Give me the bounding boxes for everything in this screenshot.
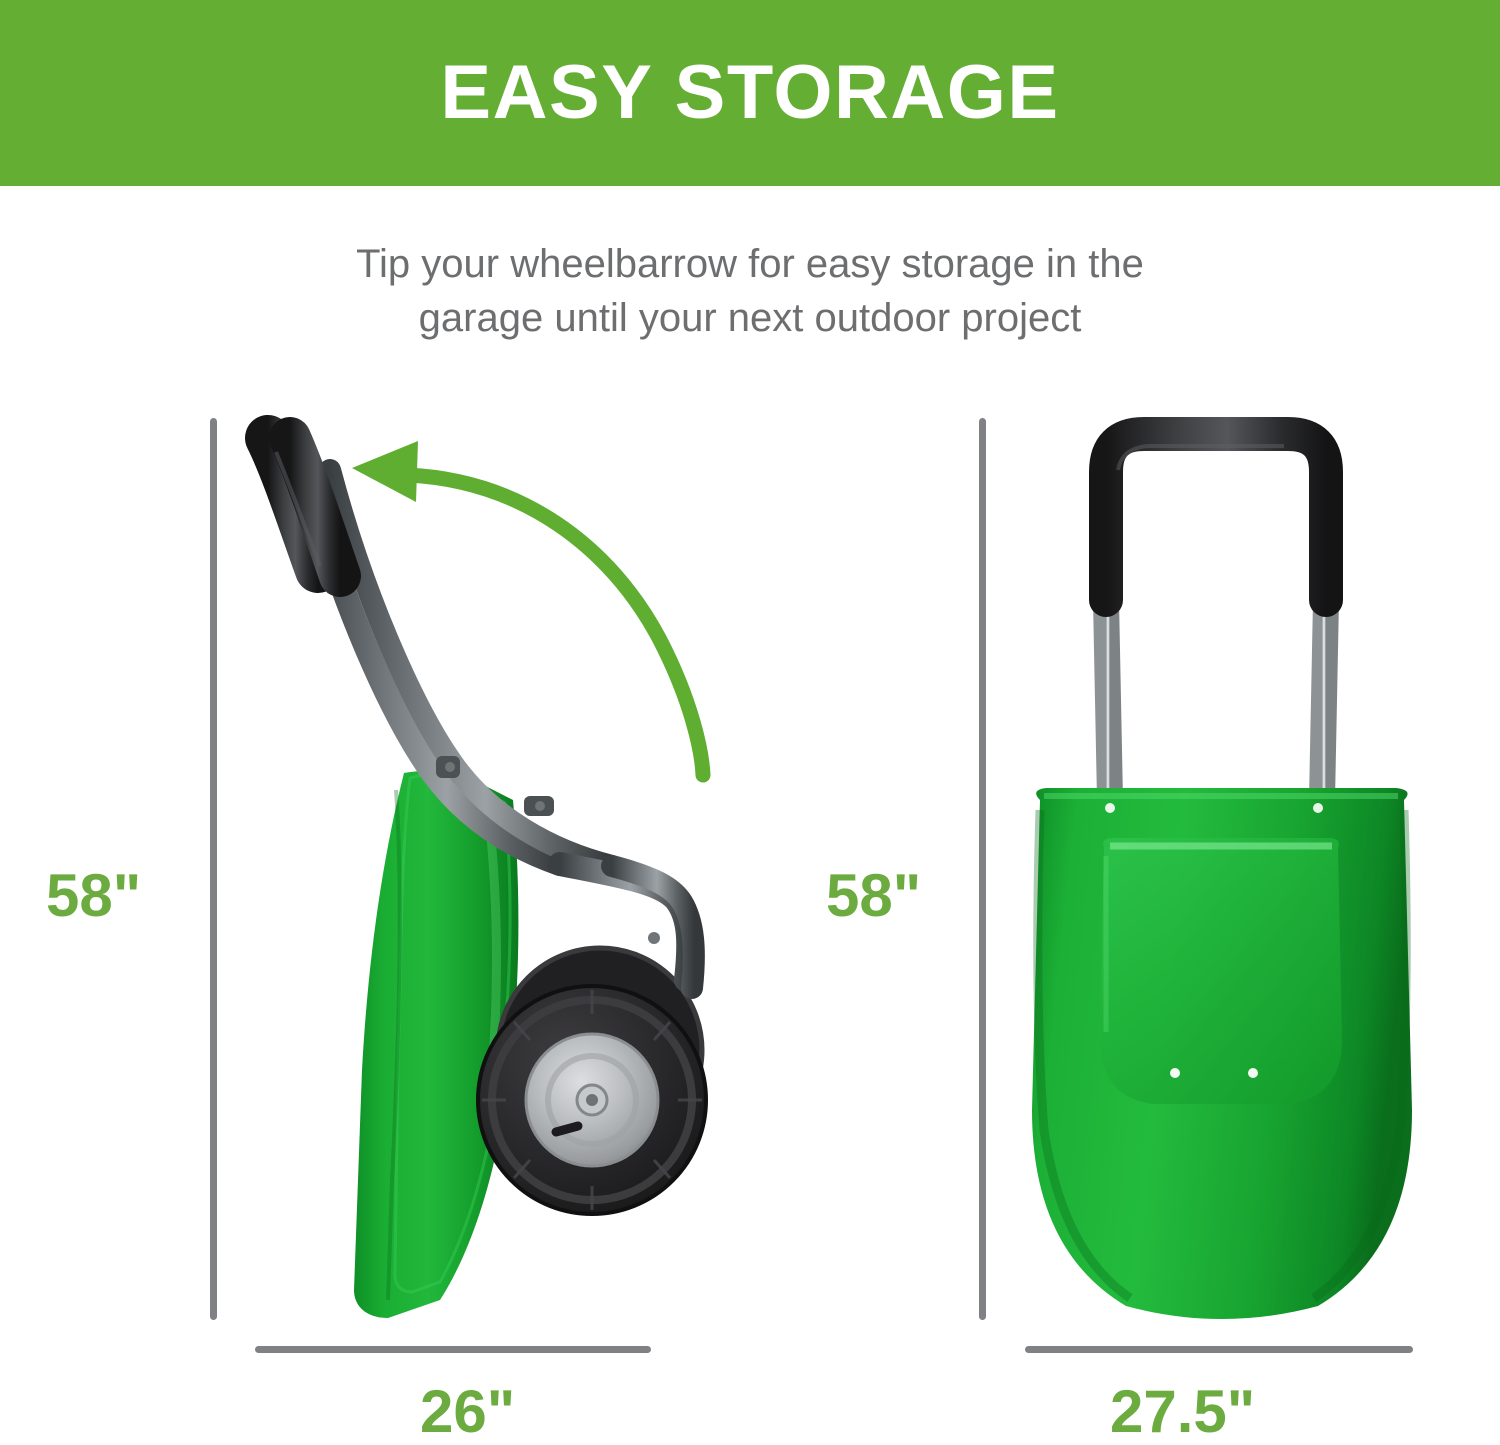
rear-wheel: [498, 948, 702, 1152]
frame-tube: [1106, 600, 1326, 800]
front-wheel: [478, 986, 706, 1214]
product-illustration-stage: [0, 0, 1500, 1442]
dimension-rule-right-width: [1025, 1346, 1413, 1353]
header-banner: EASY STORAGE: [0, 0, 1500, 186]
left-view-tipped-wheelbarrow: [268, 438, 706, 1318]
handle-grip: [1106, 434, 1326, 600]
subtitle-text: Tip your wheelbarrow for easy storage in…: [250, 238, 1250, 345]
green-tray: [354, 771, 518, 1318]
frame-tube: [308, 470, 694, 988]
subtitle-line-2: garage until your next outdoor project: [250, 292, 1250, 346]
dimension-label-right-height: 58": [826, 866, 921, 926]
tip-arrow-icon: [352, 441, 703, 775]
dimension-rule-left-width: [255, 1346, 651, 1353]
dimension-label-left-height: 58": [46, 866, 141, 926]
dimension-label-left-width: 26": [420, 1382, 515, 1442]
green-tray: [1032, 788, 1412, 1319]
dimension-rule-right-height: [979, 418, 986, 1320]
page-title: EASY STORAGE: [440, 55, 1059, 131]
subtitle-line-1: Tip your wheelbarrow for easy storage in…: [250, 238, 1250, 292]
dimension-rule-left-height: [210, 418, 217, 1320]
right-view-front-wheelbarrow: [1032, 434, 1412, 1319]
dimension-label-right-width: 27.5": [1110, 1382, 1255, 1442]
handle-grip: [268, 438, 340, 576]
